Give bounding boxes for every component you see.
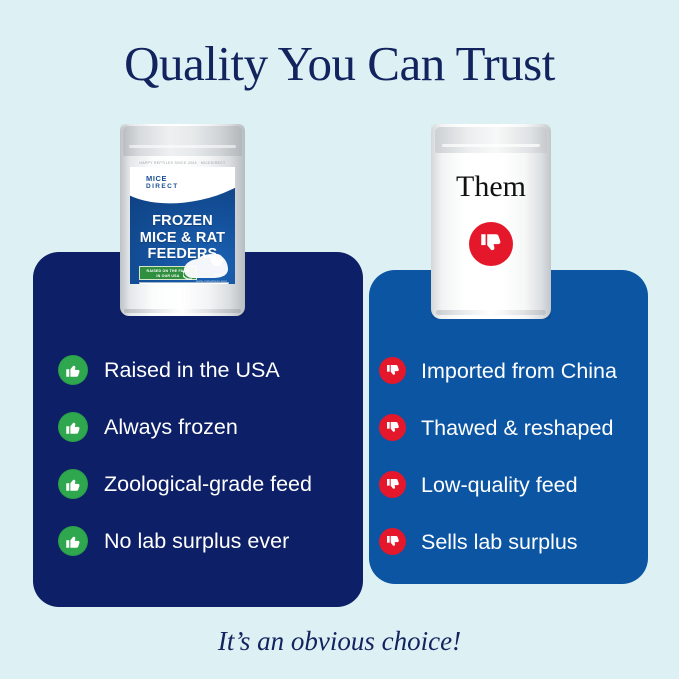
thumbs-down-icon (379, 414, 406, 441)
thumbs-down-icon (379, 528, 406, 555)
bag-mouse-caption: Pups (214, 272, 225, 278)
ours-product-bag: HAPPY REPTILES SINCE 2004 · MICEDIRECT M… (120, 124, 245, 316)
page-title: Quality You Can Trust (0, 36, 679, 92)
list-item: No lab surplus ever (58, 526, 289, 556)
bag-spec-table-title: Rats (140, 283, 228, 284)
bag-product-title-line1: FROZEN (130, 213, 235, 230)
bag-url: www.micedirect.com (196, 279, 227, 283)
list-item-label: Low-quality feed (421, 473, 578, 497)
list-item: Sells lab surplus (379, 528, 578, 555)
bag-front-label: MICE DIRECT FROZEN MICE & RAT FEEDERS RA… (130, 167, 235, 284)
thumbs-up-icon (58, 412, 88, 442)
them-product-bag: Them (431, 124, 551, 319)
bag-product-title-line2: MICE & RAT (130, 230, 235, 247)
list-item-label: Always frozen (104, 415, 238, 439)
list-item: Imported from China (379, 357, 617, 384)
thumbs-up-icon (58, 526, 88, 556)
them-bag-top-seal (435, 127, 547, 153)
bag-microtext: HAPPY REPTILES SINCE 2004 · MICEDIRECT (132, 160, 233, 166)
list-item-label: Sells lab surplus (421, 530, 578, 554)
list-item-label: No lab surplus ever (104, 529, 289, 553)
list-item-label: Imported from China (421, 359, 617, 383)
list-item: Thawed & reshaped (379, 414, 613, 441)
list-item: Raised in the USA (58, 355, 280, 385)
list-item: Zoological-grade feed (58, 469, 312, 499)
them-bag-title: Them (431, 170, 551, 204)
comparison-infographic: Quality You Can Trust HAPPY REPTILES SIN… (0, 0, 679, 679)
footer-tagline: It’s an obvious choice! (0, 625, 679, 657)
thumbs-down-icon (469, 222, 513, 266)
brand-logo-mark: MICE (146, 175, 208, 183)
bag-bottom-fold (124, 309, 241, 313)
thumbs-down-icon (379, 471, 406, 498)
thumbs-up-icon (58, 469, 88, 499)
brand-logo: MICE DIRECT (146, 175, 208, 191)
list-item: Always frozen (58, 412, 238, 442)
thumbs-down-icon (379, 357, 406, 384)
thumbs-up-icon (58, 355, 88, 385)
list-item-label: Raised in the USA (104, 358, 280, 382)
bag-top-seal (123, 126, 242, 156)
list-item: Low-quality feed (379, 471, 578, 498)
list-item-label: Zoological-grade feed (104, 472, 312, 496)
them-bag-bottom-fold (436, 310, 546, 315)
brand-logo-sub: DIRECT (146, 183, 208, 191)
list-item-label: Thawed & reshaped (421, 416, 613, 440)
